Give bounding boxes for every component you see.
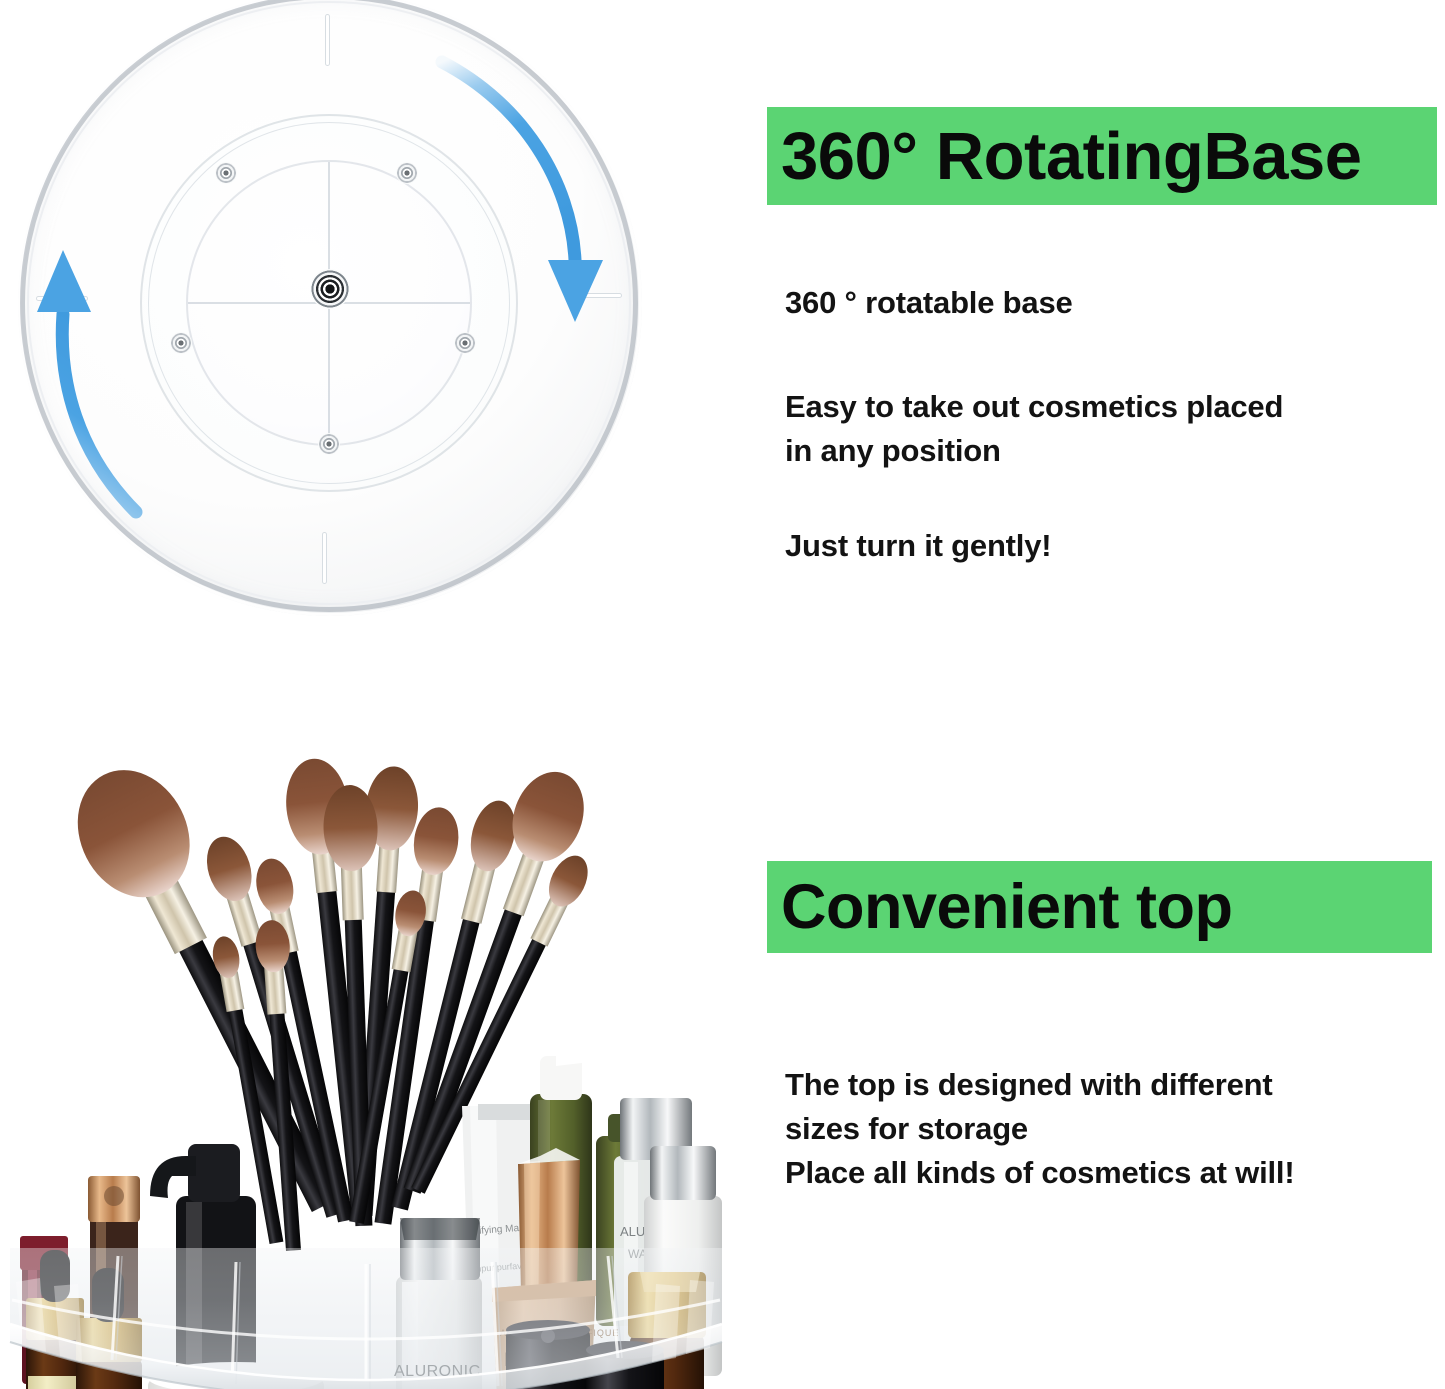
text-easy-take-out: Easy to take out cosmetics placed in any… <box>785 385 1385 473</box>
banner-rotating-base: 360° RotatingBase <box>767 107 1437 205</box>
infographic-page: rifying Mask mpur purfave ALURONIC <box>0 0 1445 1389</box>
acrylic-tray-base <box>10 1248 722 1389</box>
text-top-sizes: The top is designed with different sizes… <box>785 1063 1395 1195</box>
text-rotatable-base: 360 ° rotatable base <box>785 281 1385 325</box>
banner-convenient-top-label: Convenient top <box>781 876 1232 939</box>
rotating-base-diagram <box>18 0 648 622</box>
cosmetic-organizer-photo: rifying Mask mpur purfave ALURONIC <box>0 636 732 1389</box>
text-just-turn: Just turn it gently! <box>785 524 1385 568</box>
banner-convenient-top: Convenient top <box>767 861 1432 953</box>
rotation-arrows <box>18 0 642 616</box>
banner-rotating-base-label: 360° RotatingBase <box>781 123 1362 190</box>
